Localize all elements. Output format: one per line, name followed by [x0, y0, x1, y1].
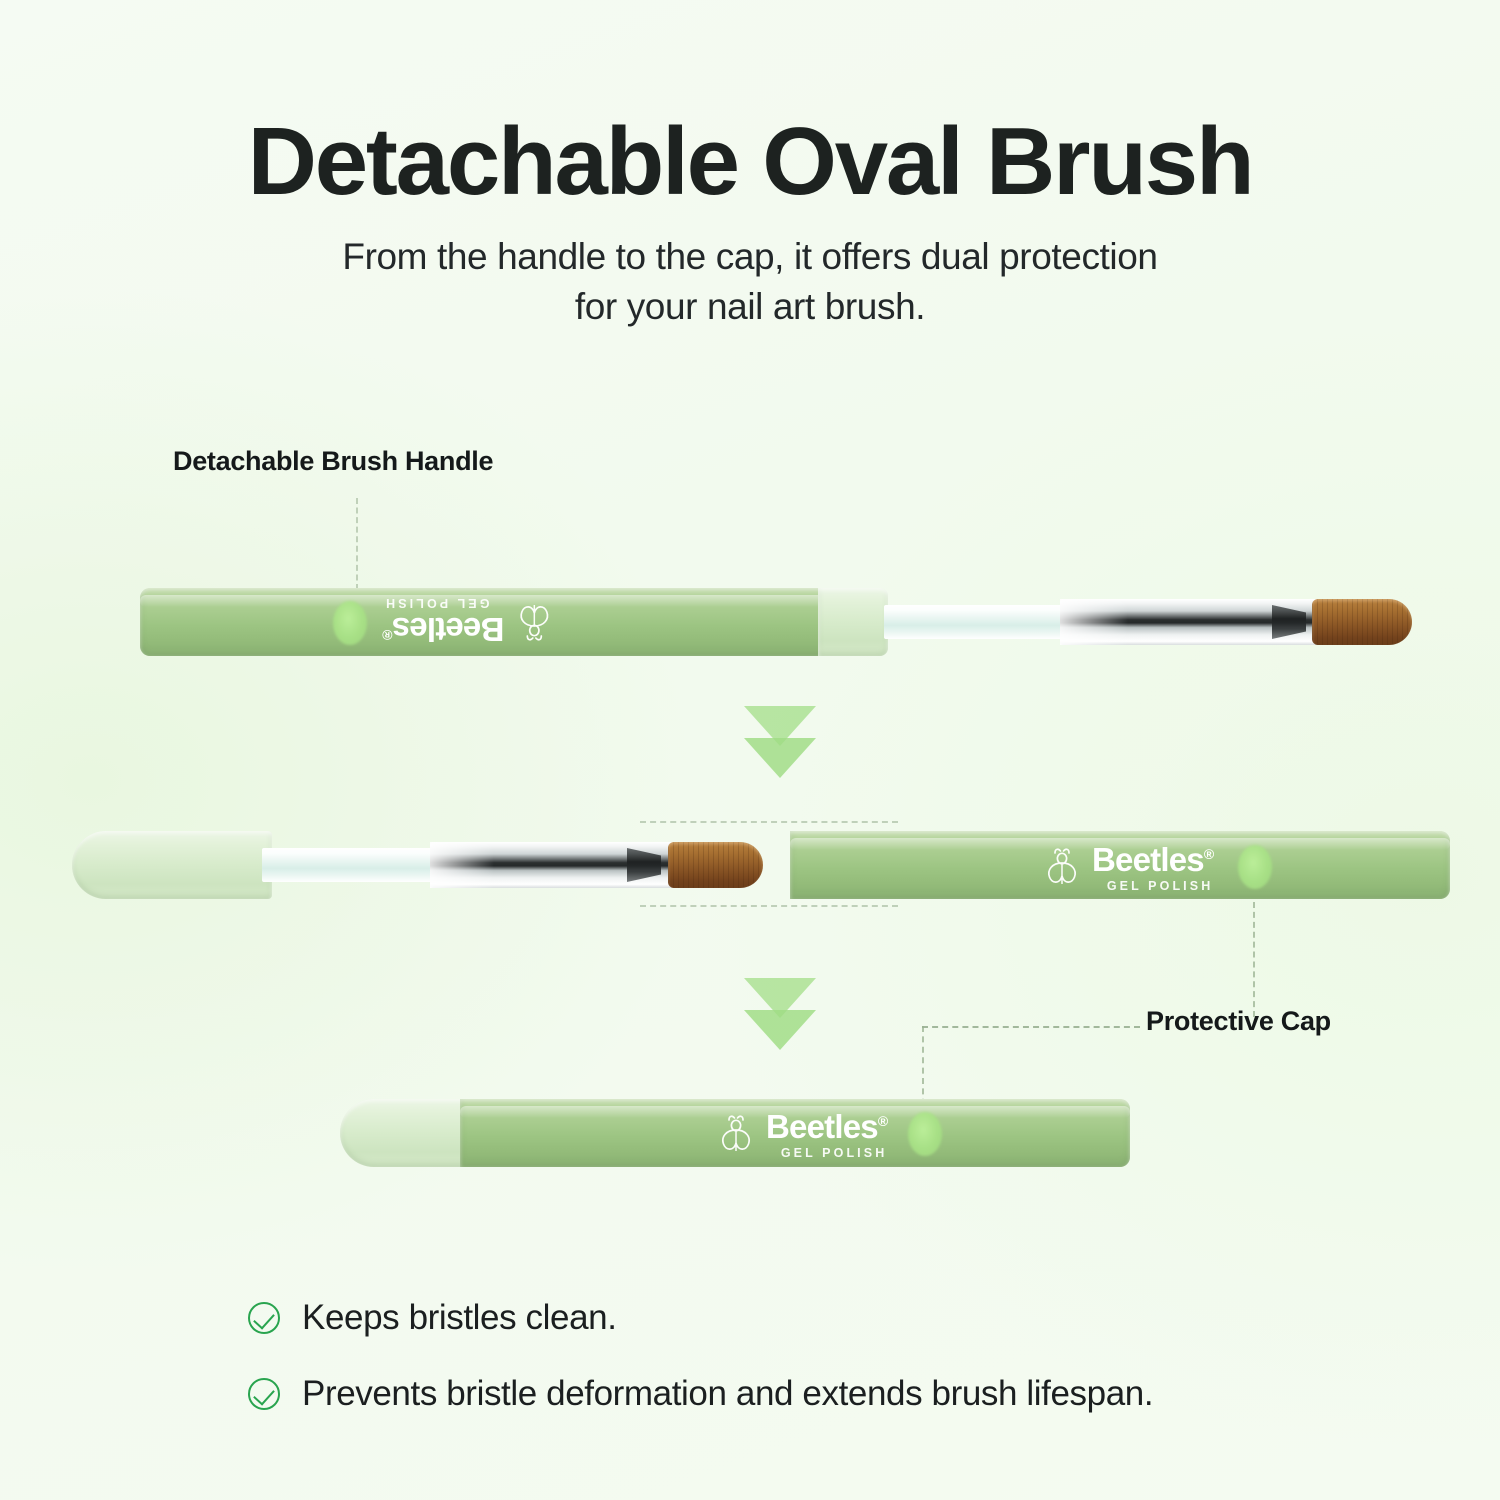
step-3-capped: Beetles® GEL POLISH — [0, 0, 1500, 1500]
check-circle-icon — [248, 1378, 280, 1410]
capped-brush-barrel — [460, 1099, 1130, 1167]
list-item: Prevents bristle deformation and extends… — [248, 1374, 1153, 1414]
benefit-text: Prevents bristle deformation and extends… — [302, 1374, 1153, 1414]
check-circle-icon — [248, 1302, 280, 1334]
benefits-list: Keeps bristles clean. Prevents bristle d… — [248, 1298, 1153, 1450]
list-item: Keeps bristles clean. — [248, 1298, 1153, 1338]
accent-dot-step3 — [908, 1112, 942, 1156]
benefit-text: Keeps bristles clean. — [302, 1298, 617, 1338]
infographic-canvas: Detachable Oval Brush From the handle to… — [0, 0, 1500, 1500]
